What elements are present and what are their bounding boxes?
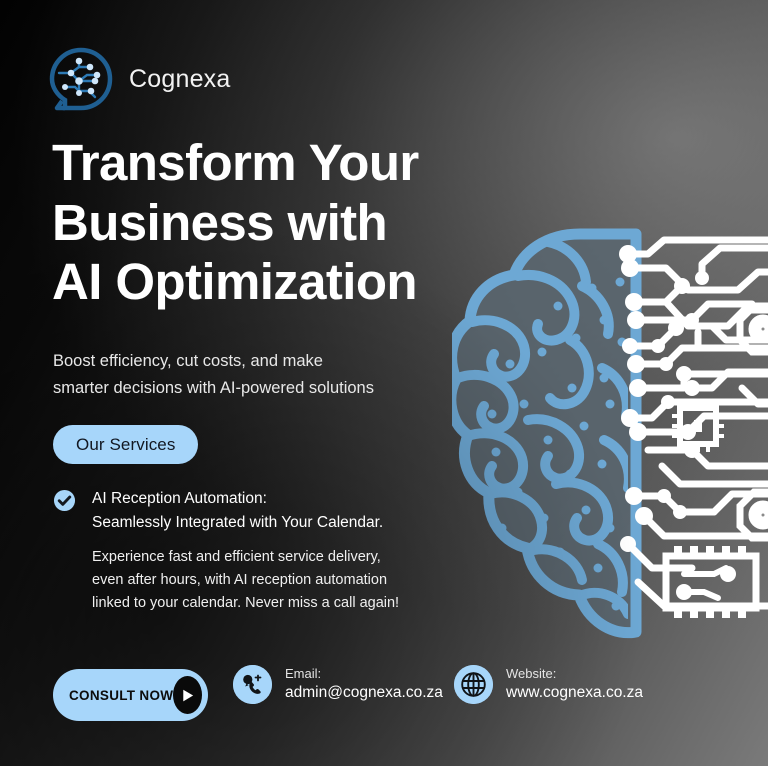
page-title: Transform Your Business with AI Optimiza… [52, 133, 522, 312]
headline-line-2: Business with [52, 193, 522, 253]
contact-website[interactable]: Website: www.cognexa.co.za [454, 665, 643, 704]
feature-title-line-2: Seamlessly Integrated with Your Calendar… [92, 511, 383, 535]
circuit-via-ring-2 [740, 492, 768, 538]
feature-title-line-1: AI Reception Automation: [92, 487, 383, 511]
check-circle-icon [53, 489, 76, 512]
phone-chat-icon [233, 665, 272, 704]
microchip-small-icon [672, 400, 724, 452]
promo-poster: Cognexa Transform Your Business with AI … [0, 0, 768, 766]
consult-now-label: CONSULT NOW [69, 688, 173, 703]
circuit-via-ring [740, 306, 768, 352]
subheadline-line-1: Boost efficiency, cut costs, and make [53, 348, 473, 375]
subheadline-line-2: smarter decisions with AI-powered soluti… [53, 375, 473, 402]
microchip-large-icon [666, 546, 756, 618]
brand-name: Cognexa [129, 65, 230, 94]
feature-body-line-2: even after hours, with AI reception auto… [92, 569, 492, 592]
feature-body-line-3: linked to your calendar. Never miss a ca… [92, 592, 492, 615]
circuit-pads [619, 245, 709, 552]
feature-title: AI Reception Automation: Seamlessly Inte… [92, 487, 383, 536]
contact-website-value: www.cognexa.co.za [506, 683, 643, 704]
feature-body-line-1: Experience fast and efficient service de… [92, 546, 492, 569]
subheadline: Boost efficiency, cut costs, and make sm… [53, 348, 473, 401]
consult-now-button[interactable]: CONSULT NOW [53, 669, 208, 721]
brain-node-dots [488, 278, 627, 611]
headline-line-3: AI Optimization [52, 252, 522, 312]
globe-icon [454, 665, 493, 704]
contact-website-label: Website: [506, 665, 643, 682]
circuit-board-half [619, 240, 768, 618]
chat-bubble-neural-network-icon [47, 45, 115, 113]
headline-line-1: Transform Your [52, 133, 522, 193]
our-services-button[interactable]: Our Services [53, 425, 198, 464]
brand-logo[interactable]: Cognexa [47, 45, 230, 113]
contact-email[interactable]: Email: admin@cognexa.co.za [233, 665, 443, 704]
contact-email-value: admin@cognexa.co.za [285, 683, 443, 704]
feature-description: Experience fast and efficient service de… [92, 546, 492, 615]
contact-email-text: Email: admin@cognexa.co.za [285, 665, 443, 703]
contact-website-text: Website: www.cognexa.co.za [506, 665, 643, 703]
contact-email-label: Email: [285, 665, 443, 682]
feature-item: AI Reception Automation: Seamlessly Inte… [53, 487, 473, 536]
play-arrow-icon [173, 676, 202, 714]
